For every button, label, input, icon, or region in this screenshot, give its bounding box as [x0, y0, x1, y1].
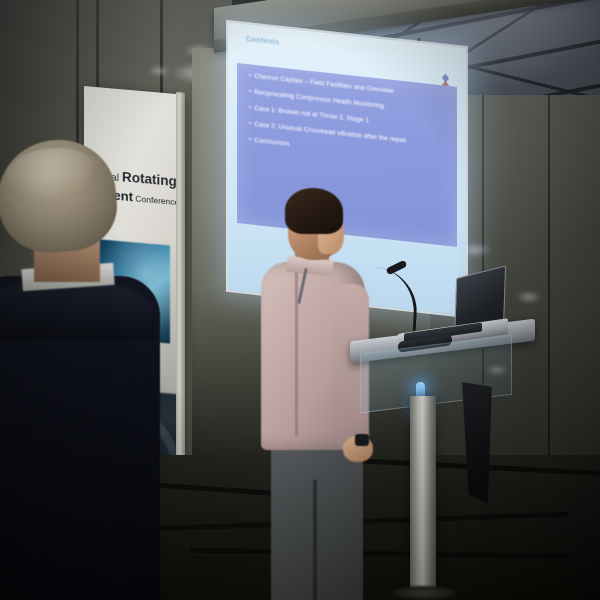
presentation-clicker-icon[interactable] [355, 434, 369, 446]
presenter-trousers [271, 440, 363, 600]
bullet-text: Conclusions [254, 138, 289, 148]
attendee-hair [0, 135, 121, 257]
presenter-hair [285, 188, 343, 234]
bullet-marker-icon: • [249, 105, 251, 111]
room-interior: Contents • Chevron Captain – Field Facil… [0, 0, 600, 600]
bullet-marker-icon: • [249, 89, 251, 95]
bullet-marker-icon: • [249, 73, 251, 79]
foreground-attendee [0, 140, 160, 600]
slide-bullet-list: • Chevron Captain – Field Facilities and… [249, 73, 451, 175]
presentation-photo: Contents • Chevron Captain – Field Facil… [0, 0, 600, 600]
bullet-marker-icon: • [249, 121, 251, 127]
slide-title: Contents [246, 36, 280, 47]
lectern-base [392, 586, 456, 600]
bullet-marker-icon: • [249, 137, 251, 143]
lectern-column [410, 396, 436, 596]
